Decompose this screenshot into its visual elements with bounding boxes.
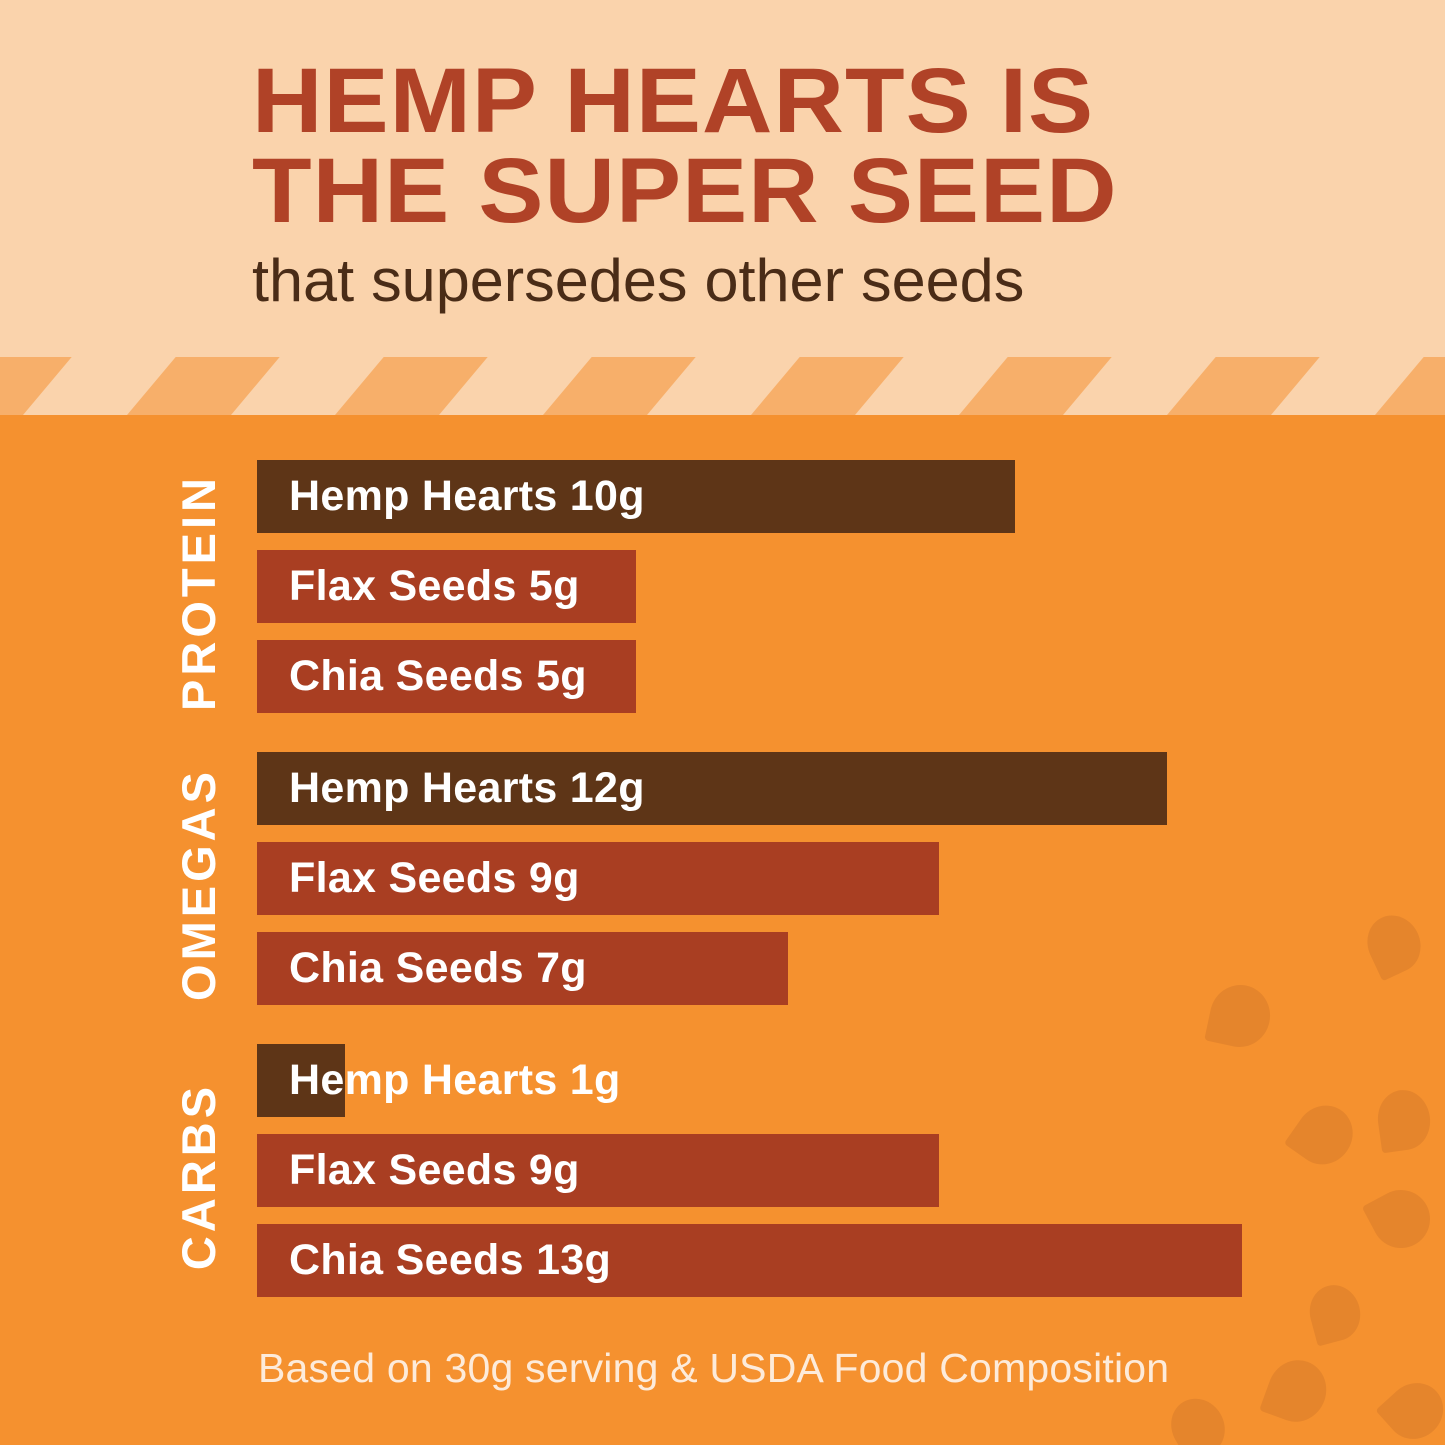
chart-group-protein: PROTEIN Hemp Hearts 10g Flax Seeds 5g Ch… [0,460,1445,725]
header-panel: HEMP HEARTS IS THE SUPER SEED that super… [0,0,1445,357]
page-title: HEMP HEARTS IS THE SUPER SEED [252,56,1262,236]
infographic-root: HEMP HEARTS IS THE SUPER SEED that super… [0,0,1445,1445]
bar-label: Chia Seeds 13g [289,1224,611,1297]
chart-group-carbs: CARBS Hemp Hearts 1g Flax Seeds 9g Chia … [0,1044,1445,1309]
group-label-omegas: OMEGAS [168,752,230,1017]
stripe-segment [946,357,1119,415]
headline-line-1: HEMP HEARTS IS [252,50,1094,152]
bar-label: Hemp Hearts 12g [289,752,645,825]
stripe-segment [322,357,495,415]
bar-label: Chia Seeds 5g [289,640,587,713]
bar-label: Flax Seeds 9g [289,1134,580,1207]
headline-line-2: THE SUPER SEED [252,146,1262,236]
chart-group-omegas: OMEGAS Hemp Hearts 12g Flax Seeds 9g Chi… [0,752,1445,1017]
bar-label: Hemp Hearts 10g [289,460,645,533]
seed-shape-icon [1375,1372,1445,1445]
stripe-segment [114,357,287,415]
stripe-segment [0,357,78,415]
bar-label: Flax Seeds 5g [289,550,580,623]
diagonal-stripe-divider [0,357,1445,415]
bar-label: Flax Seeds 9g [289,842,580,915]
stripe-segment [738,357,911,415]
group-label-protein: PROTEIN [168,460,230,725]
bar-label: Chia Seeds 7g [289,932,587,1005]
seed-shape-icon [1161,1389,1235,1445]
seed-shape-icon [1259,1352,1335,1430]
chart-footnote: Based on 30g serving & USDA Food Composi… [258,1345,1169,1392]
page-subtitle: that supersedes other seeds [252,250,1224,311]
bar-chart: PROTEIN Hemp Hearts 10g Flax Seeds 5g Ch… [0,415,1445,1445]
group-label-carbs: CARBS [168,1044,230,1309]
stripe-segment [1362,357,1445,415]
stripe-segment [1154,357,1327,415]
stripe-segment [530,357,703,415]
bar-label: Hemp Hearts 1g [289,1044,621,1117]
